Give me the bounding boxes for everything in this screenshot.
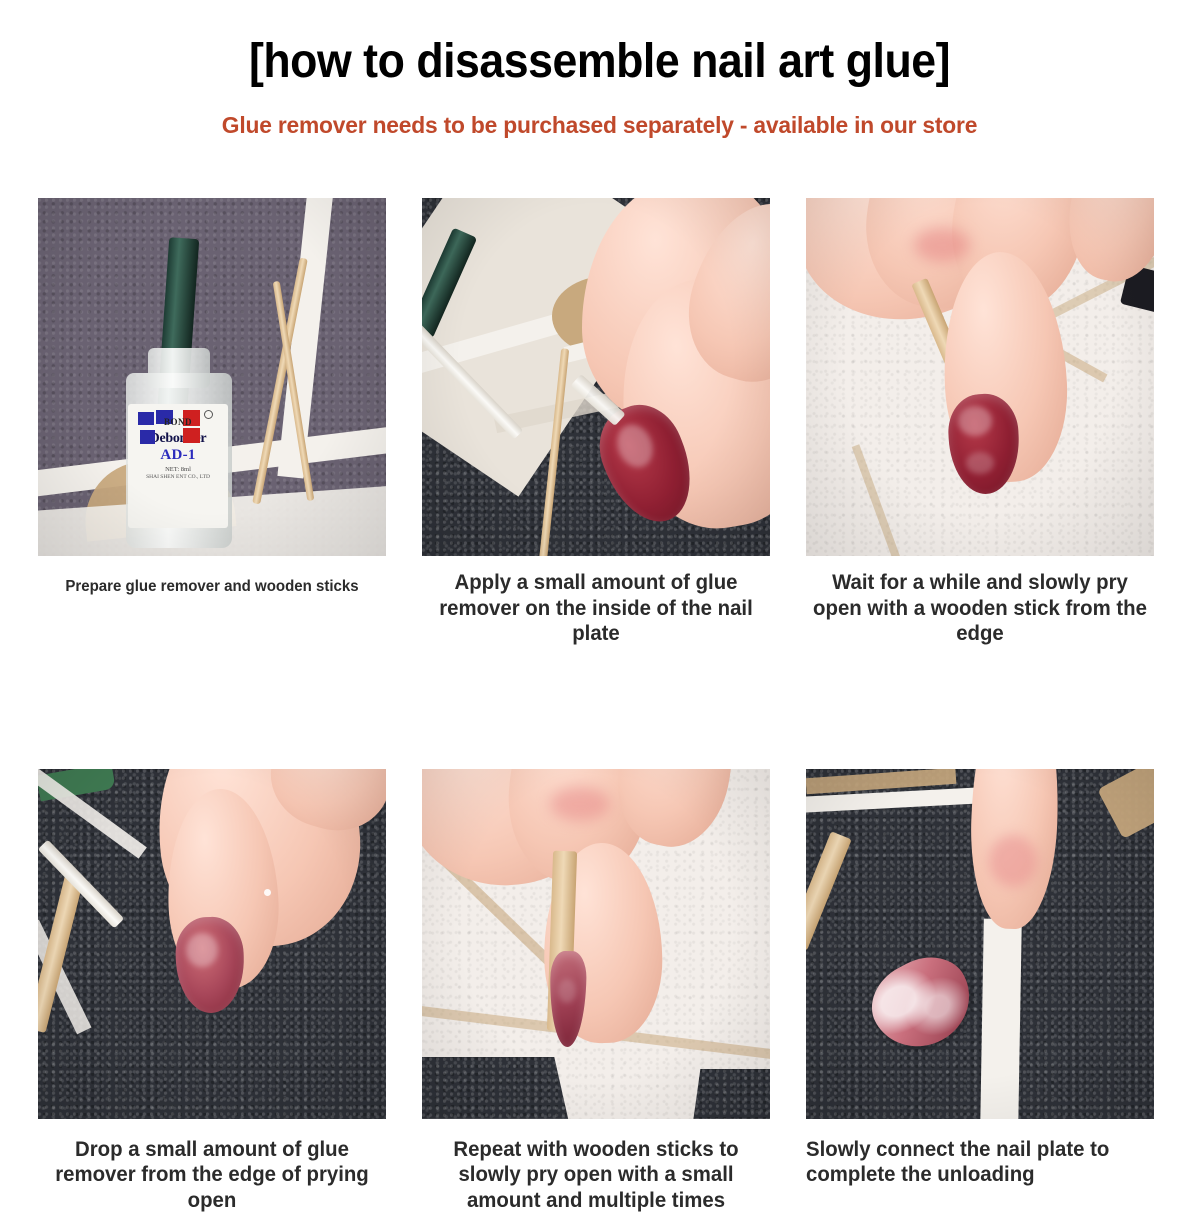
infographic-page: [how to disassemble nail art glue] Glue … — [0, 0, 1199, 1200]
photo-stripe-white-vertical — [980, 919, 1022, 1119]
step-caption-2: Apply a small amount of glue remover on … — [427, 570, 765, 647]
step-caption-3: Wait for a while and slowly pry open wit… — [811, 570, 1149, 647]
step-card-2: Apply a small amount of glue remover on … — [422, 198, 770, 647]
label-product-code: AD-1 — [128, 447, 228, 464]
nail-gloss — [558, 979, 576, 1003]
bottle-label: BOND Debonder AD-1 NET: 8ml SHAI SHEN EN… — [128, 404, 228, 528]
label-square-blue — [140, 430, 155, 444]
step-image-6 — [806, 769, 1154, 1119]
step-image-2 — [422, 198, 770, 556]
label-net-volume: NET: 8ml — [128, 466, 228, 473]
step-image-4 — [38, 769, 386, 1119]
label-square-red — [183, 428, 200, 443]
highlight-dot — [264, 889, 271, 896]
step-caption-1: Prepare glue remover and wooden sticks — [43, 578, 381, 597]
step-image-1: BOND Debonder AD-1 NET: 8ml SHAI SHEN EN… — [38, 198, 386, 556]
steps-row-2: Drop a small amount of glue remover from… — [38, 769, 1168, 1214]
step-card-4: Drop a small amount of glue remover from… — [38, 769, 386, 1214]
step-caption-4: Drop a small amount of glue remover from… — [43, 1137, 381, 1214]
steps-grid: BOND Debonder AD-1 NET: 8ml SHAI SHEN EN… — [38, 198, 1168, 1214]
page-subtitle: Glue remover needs to be purchased separ… — [18, 112, 1181, 139]
step-card-5: Repeat with wooden sticks to slowly pry … — [422, 769, 770, 1214]
fingertip-blush — [989, 835, 1037, 887]
nail-gloss — [186, 933, 218, 967]
step-caption-5: Repeat with wooden sticks to slowly pry … — [427, 1137, 765, 1214]
knuckle-blush — [914, 228, 970, 262]
step-caption-6: Slowly connect the nail plate to complet… — [806, 1137, 1144, 1188]
step-card-6: Slowly connect the nail plate to complet… — [806, 769, 1154, 1214]
label-brand-text: BOND — [128, 417, 228, 427]
label-company-name: SHAI SHEN ENT CO., LTD — [128, 474, 228, 480]
step-image-5 — [422, 769, 770, 1119]
page-title: [how to disassemble nail art glue] — [42, 34, 1157, 89]
step-card-3: Wait for a while and slowly pry open wit… — [806, 198, 1154, 647]
nail-gloss — [958, 406, 992, 436]
bottle-neck — [148, 348, 210, 388]
knuckle-blush — [550, 787, 610, 821]
step-image-3 — [806, 198, 1154, 556]
nail-gloss-2 — [966, 452, 994, 474]
steps-row-1: BOND Debonder AD-1 NET: 8ml SHAI SHEN EN… — [38, 198, 1168, 647]
step-card-1: BOND Debonder AD-1 NET: 8ml SHAI SHEN EN… — [38, 198, 386, 647]
